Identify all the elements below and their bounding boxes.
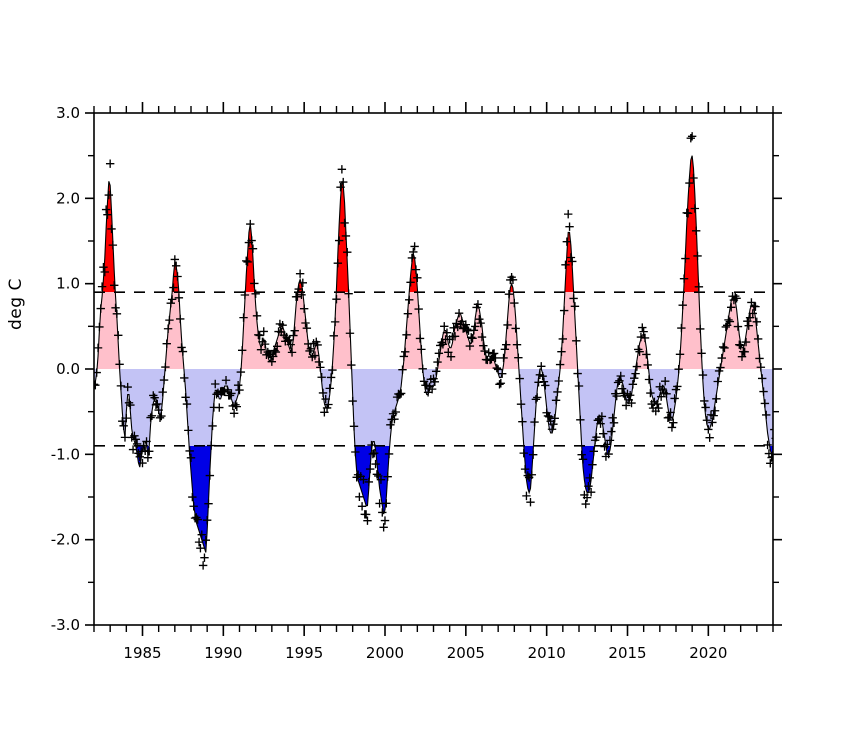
y-tick-label: 0.0 bbox=[56, 360, 80, 378]
x-tick-label: 2015 bbox=[608, 644, 646, 662]
y-tick-label: 2.0 bbox=[56, 189, 80, 207]
fill-strong-warm bbox=[102, 156, 820, 293]
fill-weak-warm bbox=[97, 292, 820, 369]
y-tick-label: -2.0 bbox=[51, 531, 80, 549]
x-tick-label: 1990 bbox=[204, 644, 242, 662]
fill-strong-cool bbox=[136, 446, 796, 553]
x-tick-label: 2010 bbox=[528, 644, 566, 662]
fill-bands bbox=[94, 156, 820, 553]
oni-timeseries-plot: 3.02.01.00.0-1.0-2.0-3.01985199019952000… bbox=[0, 0, 859, 740]
x-tick-label: 1985 bbox=[123, 644, 161, 662]
y-tick-label: -3.0 bbox=[51, 616, 80, 634]
x-tick-label: 2005 bbox=[447, 644, 485, 662]
y-tick-label: 3.0 bbox=[56, 104, 80, 122]
x-tick-label: 2000 bbox=[366, 644, 404, 662]
y-tick-label: -1.0 bbox=[51, 445, 80, 463]
chart-figure: deg C 3.02.01.00.0-1.0-2.0-3.01985199019… bbox=[0, 0, 859, 740]
x-tick-label: 2020 bbox=[689, 644, 727, 662]
y-tick-label: 1.0 bbox=[56, 275, 80, 293]
x-tick-label: 1995 bbox=[285, 644, 323, 662]
